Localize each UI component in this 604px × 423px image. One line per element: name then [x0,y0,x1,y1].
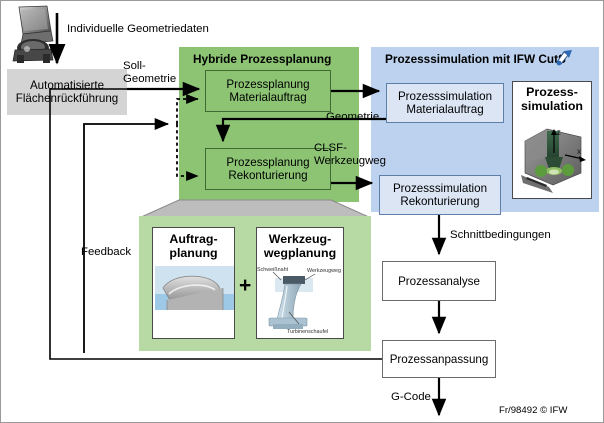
edge-label-geometry: Geometrie [326,111,379,124]
edge-label-target-geometry: Soll- Geometrie [123,60,176,86]
diagram-canvas: Hybride Prozessplanung Prozesssimulation… [0,0,604,423]
connector-layer [1,1,604,423]
edge-label-g-code: G-Code [391,391,431,404]
edge-label-feedback: Feedback [81,246,131,259]
edge-label-individual-geometry: Individuelle Geometriedaten [67,23,209,36]
footer-credit: Fr/98492 © IFW [499,405,567,416]
edge-label-clsf-toolpath: CLSF- Werkzeugweg [314,142,386,168]
edge-label-cutting-conditions: Schnittbedingungen [450,229,551,242]
